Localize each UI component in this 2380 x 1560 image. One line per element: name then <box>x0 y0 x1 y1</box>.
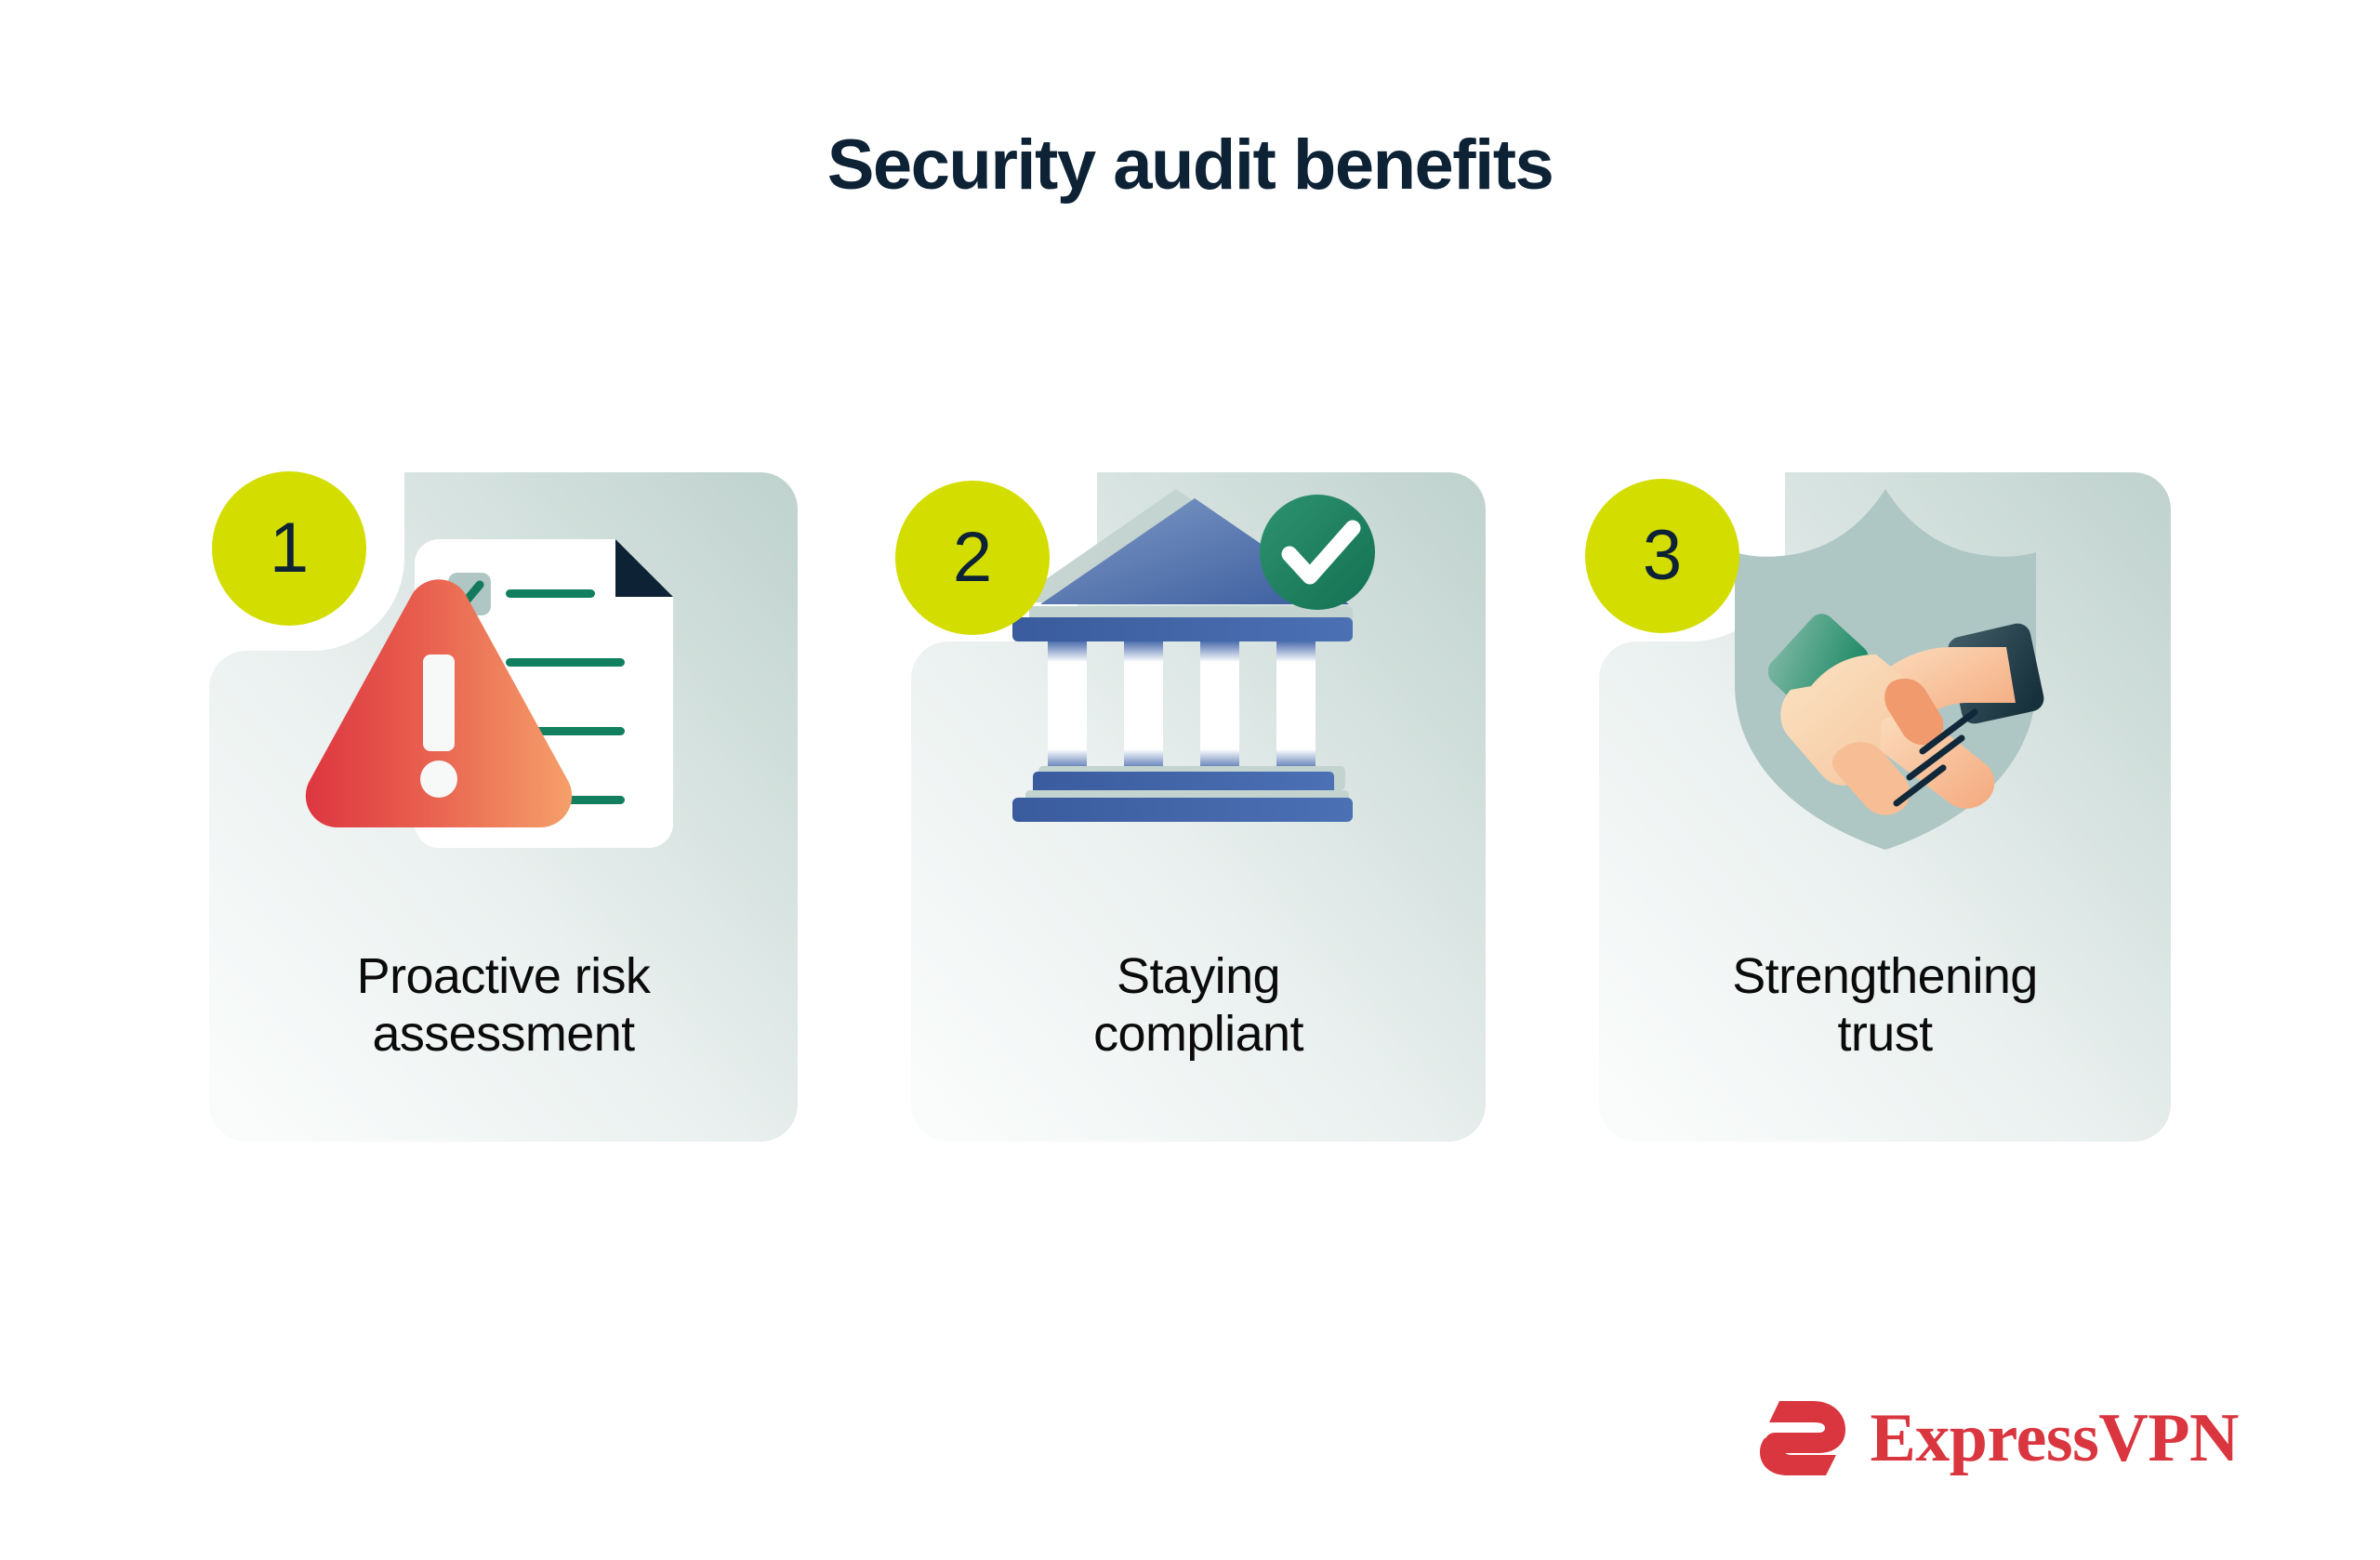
expressvpn-logo: ExpressVPN <box>1760 1398 2239 1478</box>
card-2-label-line2: compliant <box>911 1005 1486 1064</box>
card-3-number-badge: 3 <box>1585 479 1739 633</box>
card-1-label-line1: Proactive risk <box>209 947 798 1006</box>
expressvpn-e-mark-icon <box>1760 1398 1845 1478</box>
card-3-label-line1: Strengthening <box>1599 947 2171 1006</box>
card-1-number-badge: 1 <box>212 471 366 626</box>
card-3-label-line2: trust <box>1599 1005 2171 1064</box>
card-2-label: Staying compliant <box>911 947 1486 1064</box>
green-check-badge-icon <box>1260 495 1375 610</box>
card-1-label: Proactive risk assessment <box>209 947 798 1064</box>
bank-building-verified-icon <box>1003 472 1394 844</box>
card-1-number: 1 <box>270 513 309 584</box>
card-2-label-line1: Staying <box>911 947 1486 1006</box>
card-3-label: Strengthening trust <box>1599 947 2171 1064</box>
expressvpn-wordmark: ExpressVPN <box>1870 1404 2239 1473</box>
shield-handshake-icon <box>1699 472 2071 863</box>
bank-columns <box>1048 641 1316 770</box>
card-2-number: 2 <box>953 522 992 593</box>
card-3-number: 3 <box>1643 521 1682 591</box>
card-1-label-line2: assessment <box>209 1005 798 1064</box>
page-title: Security audit benefits <box>0 130 2380 201</box>
card-2-number-badge: 2 <box>895 481 1050 635</box>
infographic-canvas: Security audit benefits <box>0 0 2380 1560</box>
